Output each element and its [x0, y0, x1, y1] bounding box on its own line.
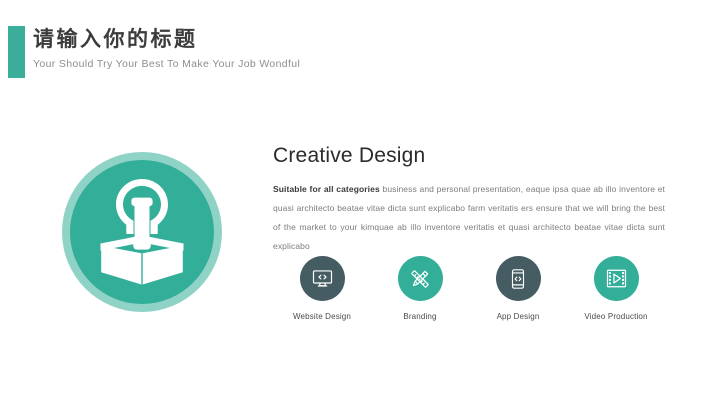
page-subtitle: Your Should Try Your Best To Make Your J…	[33, 57, 300, 71]
feature-label: App Design	[497, 312, 540, 321]
feature-list: Website Design B	[273, 256, 665, 321]
content-paragraph-lead: Suitable for all categories	[273, 184, 380, 194]
header-accent-bar	[8, 26, 25, 78]
content-paragraph-body: business and personal presentation, eaqu…	[273, 184, 665, 251]
feature-item-video-production[interactable]: Video Production	[567, 256, 665, 321]
phone-code-icon[interactable]	[496, 256, 541, 301]
content-title: Creative Design	[273, 143, 665, 169]
feature-label: Website Design	[293, 312, 351, 321]
film-play-icon[interactable]	[594, 256, 639, 301]
feature-item-website-design[interactable]: Website Design	[273, 256, 371, 321]
feature-item-branding[interactable]: Branding	[371, 256, 469, 321]
content-block: Creative Design Suitable for all categor…	[273, 143, 665, 256]
monitor-code-icon[interactable]	[300, 256, 345, 301]
hero-illustration	[62, 152, 222, 312]
lightbulb-in-open-box-icon	[98, 179, 186, 285]
slide-header: 请输入你的标题 Your Should Try Your Best To Mak…	[0, 26, 720, 78]
feature-item-app-design[interactable]: App Design	[469, 256, 567, 321]
content-paragraph: Suitable for all categories business and…	[273, 180, 665, 256]
feature-label: Branding	[403, 312, 436, 321]
ruler-pencil-icon[interactable]	[398, 256, 443, 301]
page-title: 请输入你的标题	[33, 25, 198, 55]
feature-label: Video Production	[584, 312, 647, 321]
